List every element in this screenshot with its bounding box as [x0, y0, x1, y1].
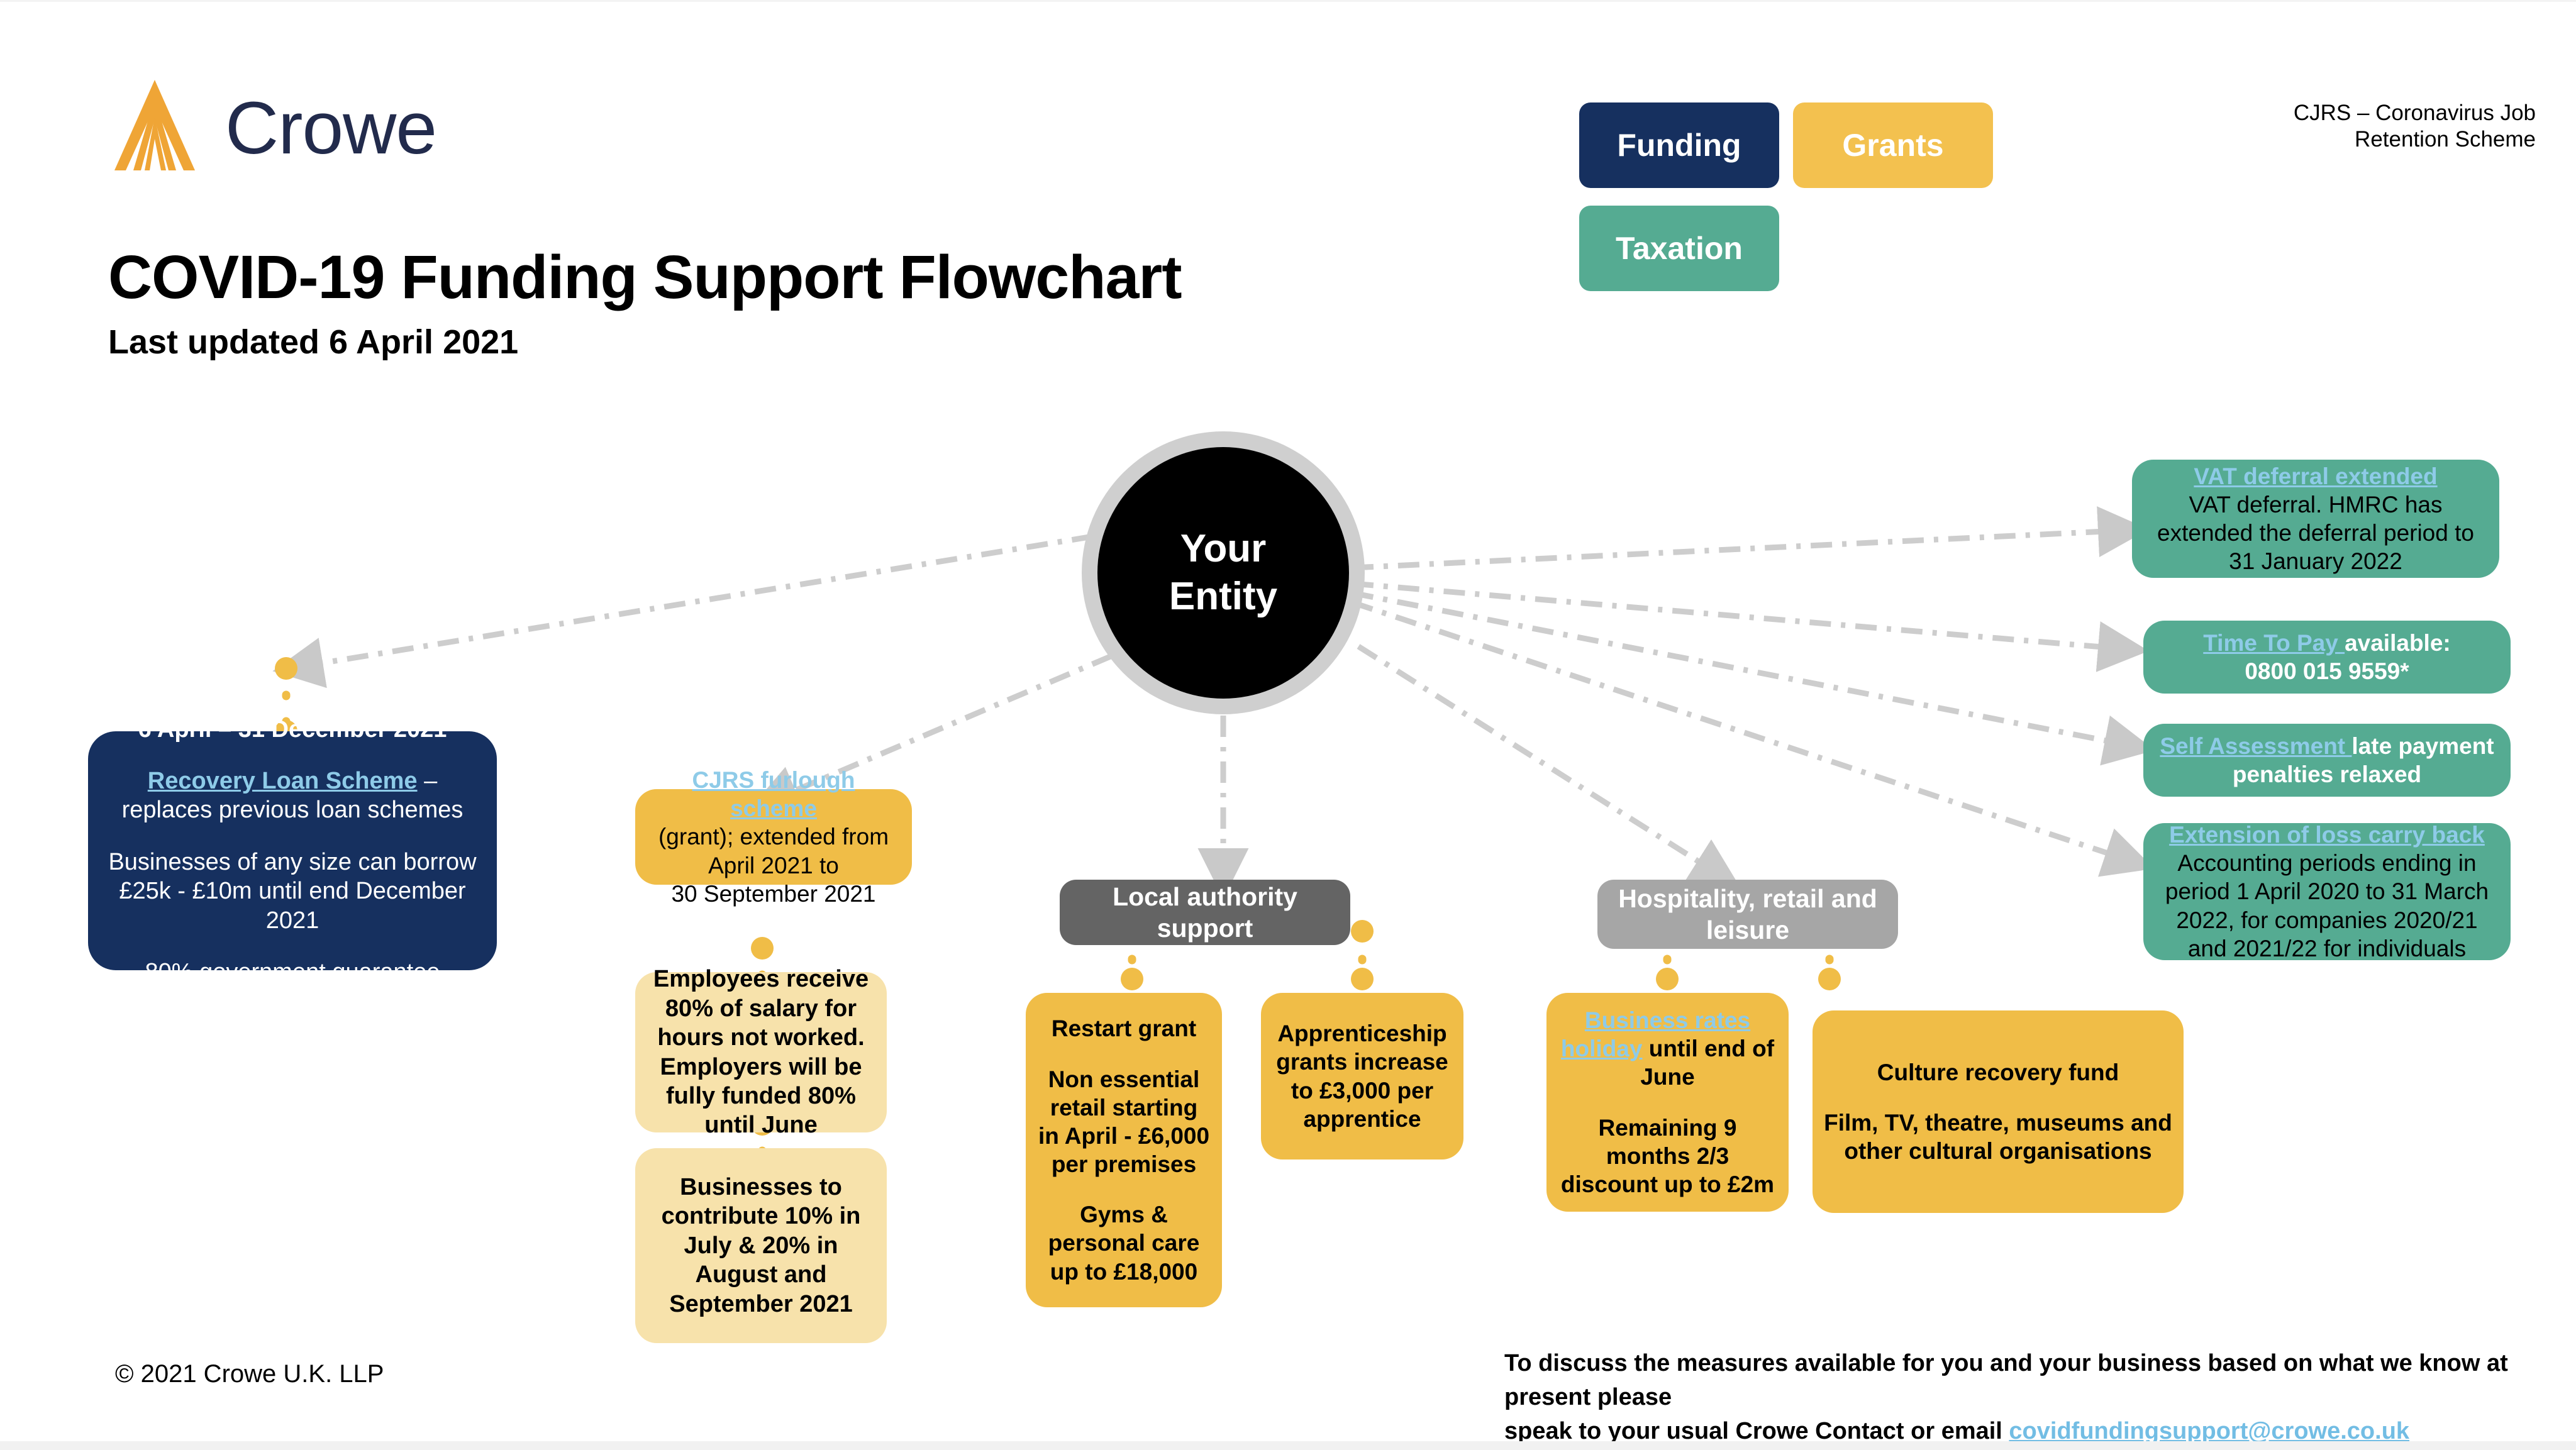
contact-line-2: speak to your usual Crowe Contact or ema… — [1504, 1415, 2536, 1449]
vat-deferral-link[interactable]: VAT deferral extended — [2194, 463, 2437, 489]
page-title: COVID-19 Funding Support Flowchart — [108, 242, 1182, 313]
node-cjrs-furlough-scheme[interactable]: CJRS furlough scheme (grant); extended f… — [635, 789, 912, 885]
copyright-text: © 2021 Crowe U.K. LLP — [115, 1360, 384, 1388]
node-local-authority-support[interactable]: Local authority support — [1060, 880, 1350, 945]
business-rates-suffix: until end of June — [1640, 1036, 1774, 1090]
cjrs-link[interactable]: CJRS furlough scheme — [692, 767, 855, 821]
contact-line-1: To discuss the measures available for yo… — [1504, 1347, 2536, 1415]
node-loss-carry-back[interactable]: Extension of loss carry back Accounting … — [2143, 823, 2511, 960]
time-to-pay-number: 0800 015 9559* — [2245, 657, 2409, 685]
crowe-logo-mark — [106, 79, 206, 173]
crowe-logo-wordmark: Crowe — [225, 91, 436, 165]
restart-grant-line3: Gyms & personal care up to £18,000 — [1037, 1200, 1211, 1285]
contact-line-2-prefix: speak to your usual Crowe Contact or ema… — [1504, 1418, 2009, 1444]
node-culture-recovery-fund[interactable]: Culture recovery fund Film, TV, theatre,… — [1813, 1010, 2184, 1213]
time-to-pay-link-line: Time To Pay available: — [2203, 629, 2450, 657]
legend-funding[interactable]: Funding — [1579, 102, 1779, 188]
page-subtitle: Last updated 6 April 2021 — [108, 323, 518, 362]
recovery-loan-footer: 80% government guarantee — [145, 958, 440, 987]
loss-carry-back-body: Accounting periods ending in period 1 Ap… — [2155, 849, 2499, 963]
node-cjrs-business-contribution[interactable]: Businesses to contribute 10% in July & 2… — [635, 1148, 887, 1343]
legend-taxation[interactable]: Taxation — [1579, 206, 1779, 291]
recovery-loan-body: Businesses of any size can borrow £25k -… — [99, 848, 486, 935]
culture-fund-line2: Film, TV, theatre, museums and other cul… — [1824, 1109, 2172, 1165]
node-apprenticeship-grants[interactable]: Apprenticeship grants increase to £3,000… — [1261, 993, 1463, 1159]
business-rates-line2: Remaining 9 months 2/3 discount up to £2… — [1558, 1114, 1777, 1198]
time-to-pay-suffix: available: — [2345, 630, 2451, 656]
contact-email-link[interactable]: covidfundingsupport@crowe.co.uk — [2009, 1418, 2409, 1444]
node-business-rates-holiday[interactable]: Business rates holiday until end of June… — [1546, 993, 1789, 1212]
culture-fund-line1: Culture recovery fund — [1877, 1058, 2119, 1087]
node-time-to-pay[interactable]: Time To Pay available: 0800 015 9559* — [2143, 621, 2511, 694]
node-recovery-loan-scheme[interactable]: 6 April – 31 December 2021 Recovery Loan… — [88, 731, 497, 970]
wire-to-vat-deferral — [1352, 530, 2132, 568]
cjrs-abbreviation-note: CJRS – Coronavirus Job Retention Scheme — [2209, 100, 2536, 153]
loss-carry-back-link[interactable]: Extension of loss carry back — [2169, 822, 2485, 848]
wire-to-hospitality — [1358, 646, 1726, 879]
recovery-loan-link[interactable]: Recovery Loan Scheme — [148, 768, 418, 794]
crowe-logo: Crowe — [106, 79, 483, 179]
wire-to-time-to-pay — [1352, 584, 2132, 650]
node-cjrs-employee-contribution[interactable]: Employees receive 80% of salary for hour… — [635, 972, 887, 1132]
wire-to-loss-carry-back — [1352, 602, 2138, 863]
recovery-loan-link-line: Recovery Loan Scheme – replaces previous… — [99, 767, 486, 825]
entity-node: Your Entity — [1097, 447, 1349, 699]
loss-carry-back-link-line: Extension of loss carry back — [2169, 821, 2485, 849]
node-hospitality-retail-leisure[interactable]: Hospitality, retail and leisure — [1597, 880, 1898, 949]
cjrs-line2: (grant); extended from April 2021 to — [647, 822, 901, 879]
entity-label-line1: Your — [1180, 525, 1267, 573]
vat-deferral-link-line: VAT deferral extended — [2194, 462, 2437, 490]
self-assessment-line: Self Assessment late payment penalties r… — [2155, 732, 2499, 789]
restart-grant-line2: Non essential retail starting in April -… — [1037, 1065, 1211, 1179]
cjrs-link-line: CJRS furlough scheme — [647, 766, 901, 822]
cjrs-line3: 30 September 2021 — [671, 880, 875, 908]
time-to-pay-link[interactable]: Time To Pay — [2203, 630, 2345, 656]
node-vat-deferral-extended[interactable]: VAT deferral extended VAT deferral. HMRC… — [2132, 460, 2499, 578]
wire-to-self-assessment — [1352, 593, 2138, 747]
flowchart-canvas: Crowe COVID-19 Funding Support Flowchart… — [0, 2, 2576, 1450]
wire-to-recovery-loan — [289, 536, 1093, 668]
flowchart-page: Crowe COVID-19 Funding Support Flowchart… — [0, 0, 2576, 1450]
recovery-loan-heading: 6 April – 31 December 2021 — [138, 715, 447, 744]
node-self-assessment-penalties[interactable]: Self Assessment late payment penalties r… — [2143, 724, 2511, 797]
entity-label-line2: Entity — [1169, 573, 1277, 621]
contact-footer: To discuss the measures available for yo… — [1504, 1347, 2536, 1449]
node-restart-grant[interactable]: Restart grant Non essential retail start… — [1026, 993, 1222, 1307]
self-assessment-link[interactable]: Self Assessment — [2160, 733, 2351, 759]
business-rates-link-line: Business rates holiday until end of June — [1558, 1006, 1777, 1091]
vat-deferral-body: VAT deferral. HMRC has extended the defe… — [2143, 490, 2488, 575]
legend-grants[interactable]: Grants — [1793, 102, 1993, 188]
restart-grant-line1: Restart grant — [1052, 1014, 1196, 1043]
